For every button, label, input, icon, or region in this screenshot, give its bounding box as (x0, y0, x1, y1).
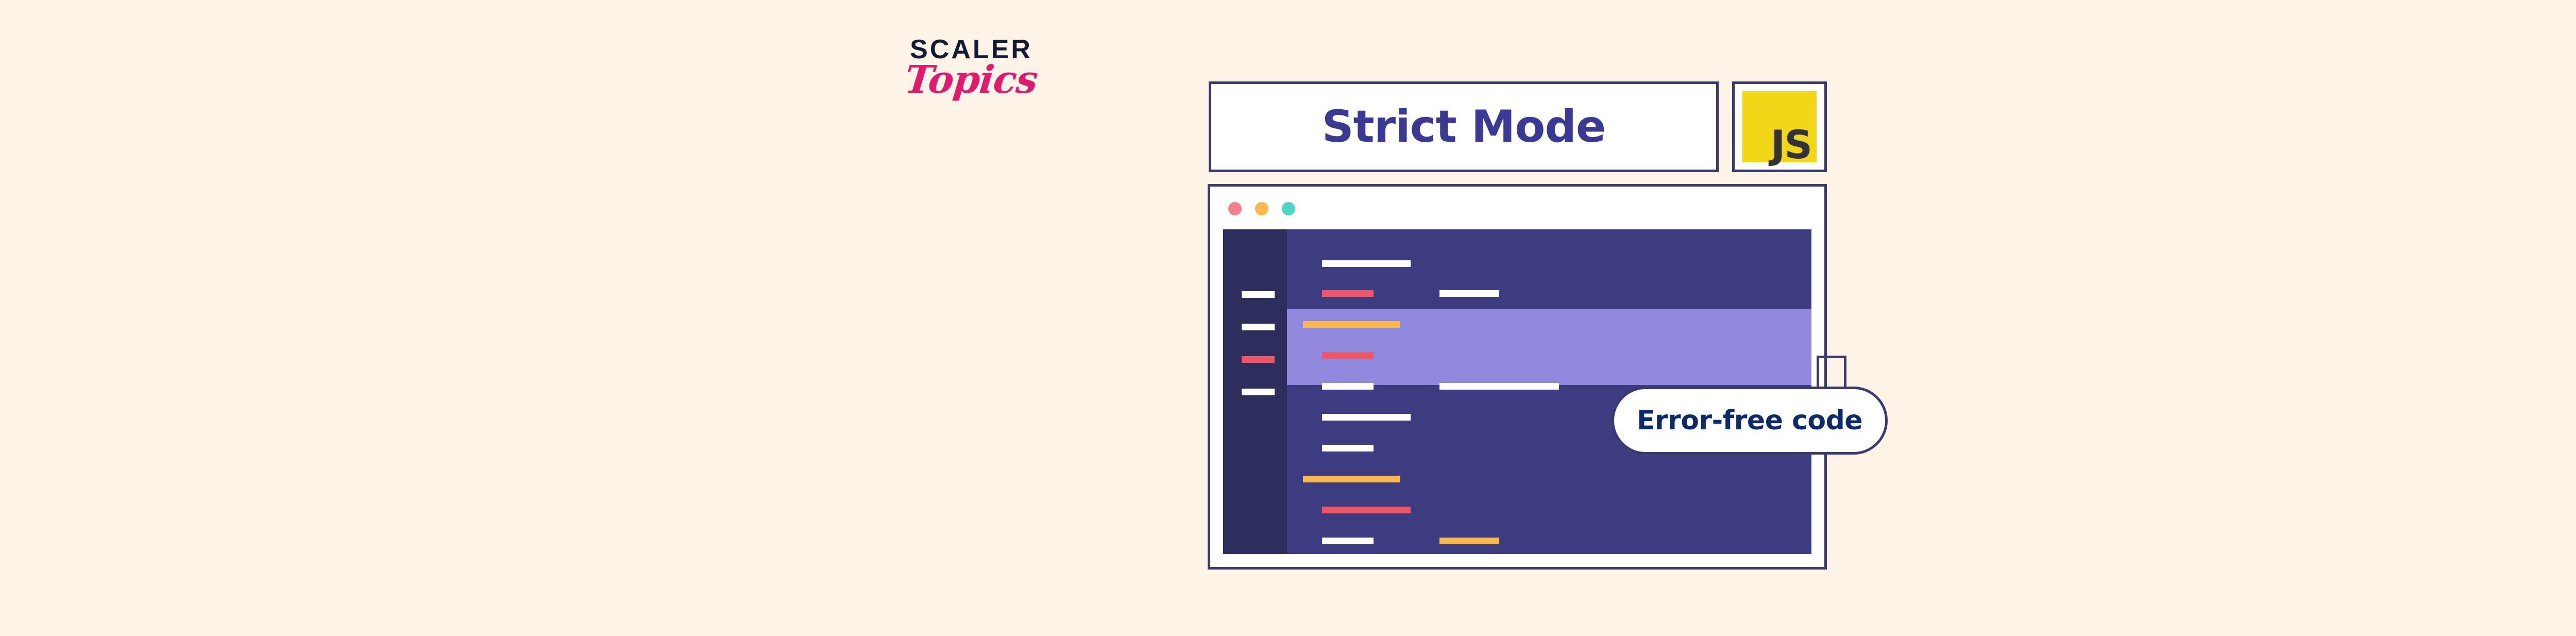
code-line-11 (1322, 507, 1411, 513)
callout-label: Error-free code (1637, 405, 1862, 436)
sidebar-line-1 (1242, 291, 1275, 298)
maximize-dot-icon (1282, 202, 1295, 215)
code-line-3 (1439, 290, 1499, 297)
js-logo-icon: JS (1742, 91, 1817, 162)
page-title: Strict Mode (1322, 101, 1606, 153)
title-card: Strict Mode (1209, 81, 1719, 172)
sidebar-line-2 (1242, 324, 1275, 330)
code-line-10 (1303, 476, 1400, 482)
code-line-7 (1439, 383, 1559, 390)
illustration-canvas: SCALER Topics Strict Mode JS Error-free … (0, 0, 2576, 636)
minimize-dot-icon (1255, 202, 1268, 215)
javascript-badge: JS (1732, 81, 1827, 172)
browser-window-mock (1208, 184, 1827, 570)
js-logo-label: JS (1771, 125, 1811, 164)
code-line-5 (1322, 352, 1374, 359)
logo-wordmark-topics: Topics (892, 61, 1050, 99)
code-line-12 (1322, 538, 1374, 544)
code-line-9 (1322, 445, 1374, 451)
code-line-2 (1322, 290, 1374, 297)
error-free-code-callout: Error-free code (1612, 387, 1888, 455)
code-line-4 (1303, 321, 1400, 328)
scaler-topics-logo: SCALER Topics (894, 36, 1048, 119)
sidebar-line-4 (1242, 389, 1275, 395)
browser-titlebar (1210, 187, 1824, 229)
code-line-13 (1439, 538, 1499, 544)
editor-sidebar (1223, 229, 1287, 554)
code-line-8 (1322, 414, 1411, 421)
close-dot-icon (1228, 202, 1242, 215)
code-line-6 (1322, 383, 1374, 390)
code-line-1 (1322, 260, 1411, 267)
sidebar-line-3 (1242, 356, 1275, 363)
